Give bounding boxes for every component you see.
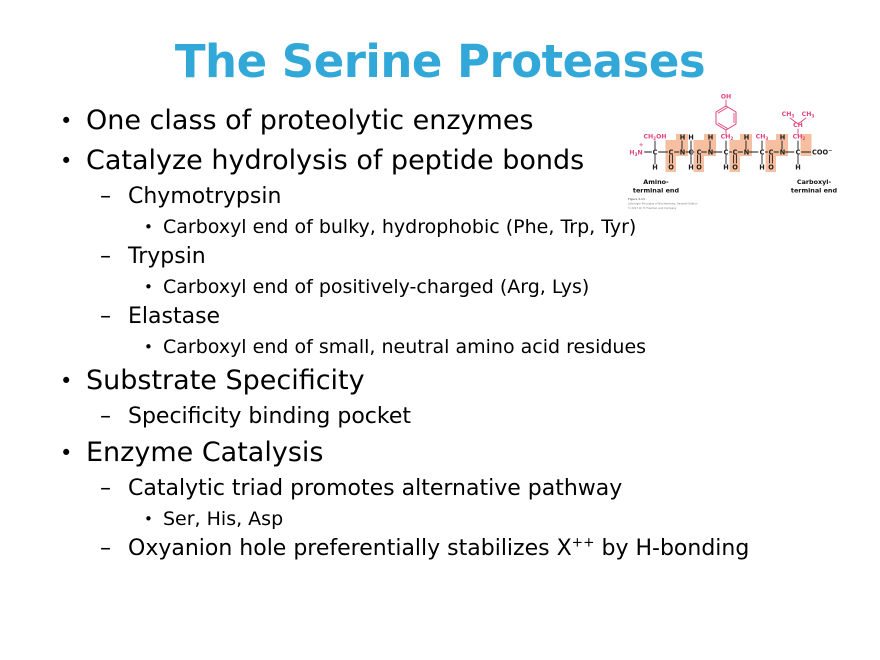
bullet-marker: • [60,361,72,401]
bullet-text: Oxyanion hole preferentially stabilizes … [128,533,749,565]
bullet-text: Carboxyl end of bulky, hydrophobic (Phe,… [163,213,636,241]
bullet-item-level3: • Carboxyl end of bulky, hydrophobic (Ph… [48,213,848,241]
bullet-marker: • [60,101,72,141]
bullet-item-level2-oxyanion: – Oxyanion hole preferentially stabilize… [48,533,848,565]
bullet-marker: • [144,213,153,241]
bullet-item-level2: – Catalytic triad promotes alternative p… [48,473,848,505]
bullet-text: Catalytic triad promotes alternative pat… [128,473,622,505]
bullet-marker: – [100,401,111,433]
page-title: The Serine Proteases [0,36,880,88]
slide-body: • One class of proteolytic enzymes • Cat… [48,101,848,565]
bullet-item-level2: – Specificity binding pocket [48,401,848,433]
bullet-item-level3: • Ser, His, Asp [48,505,848,533]
bullet-text: Substrate Specificity [86,361,365,401]
bullet-item-level1: • Catalyze hydrolysis of peptide bonds [48,141,848,181]
bullet-marker: – [100,241,111,273]
bullet-item-level3: • Carboxyl end of positively-charged (Ar… [48,273,848,301]
bullet-text: Carboxyl end of small, neutral amino aci… [163,333,646,361]
bullet-marker: • [144,273,153,301]
bullet-text: One class of proteolytic enzymes [86,101,534,141]
bullet-text: Ser, His, Asp [163,505,283,533]
bullet-item-level1: • One class of proteolytic enzymes [48,101,848,141]
bullet-marker: • [60,141,72,181]
bullet-text: Carboxyl end of positively-charged (Arg,… [163,273,589,301]
bullet-text: Trypsin [128,241,206,273]
bullet-text: Enzyme Catalysis [86,433,323,473]
bullet-text: Elastase [128,301,220,333]
bullet-marker: – [100,301,111,333]
oxyanion-superscript: ++ [572,535,595,551]
bullet-item-level2: – Elastase [48,301,848,333]
bullet-marker: • [144,333,153,361]
slide-canvas: The Serine Proteases [0,0,880,660]
bullet-marker: – [100,533,111,565]
bullet-text: Specificity binding pocket [128,401,411,433]
svg-text:OH: OH [721,94,731,101]
bullet-item-level2: – Chymotrypsin [48,181,848,213]
bullet-marker: – [100,181,111,213]
bullet-marker: – [100,473,111,505]
bullet-text: Chymotrypsin [128,181,281,213]
bullet-item-level2: – Trypsin [48,241,848,273]
oxyanion-text-before: Oxyanion hole preferentially stabilizes … [128,536,572,561]
bullet-item-level1: • Substrate Specificity [48,361,848,401]
bullet-text: Catalyze hydrolysis of peptide bonds [86,141,584,181]
bullet-item-level1: • Enzyme Catalysis [48,433,848,473]
bullet-marker: • [144,505,153,533]
bullet-item-level3: • Carboxyl end of small, neutral amino a… [48,333,848,361]
bullet-marker: • [60,433,72,473]
oxyanion-text-after: by H-bonding [595,536,750,561]
